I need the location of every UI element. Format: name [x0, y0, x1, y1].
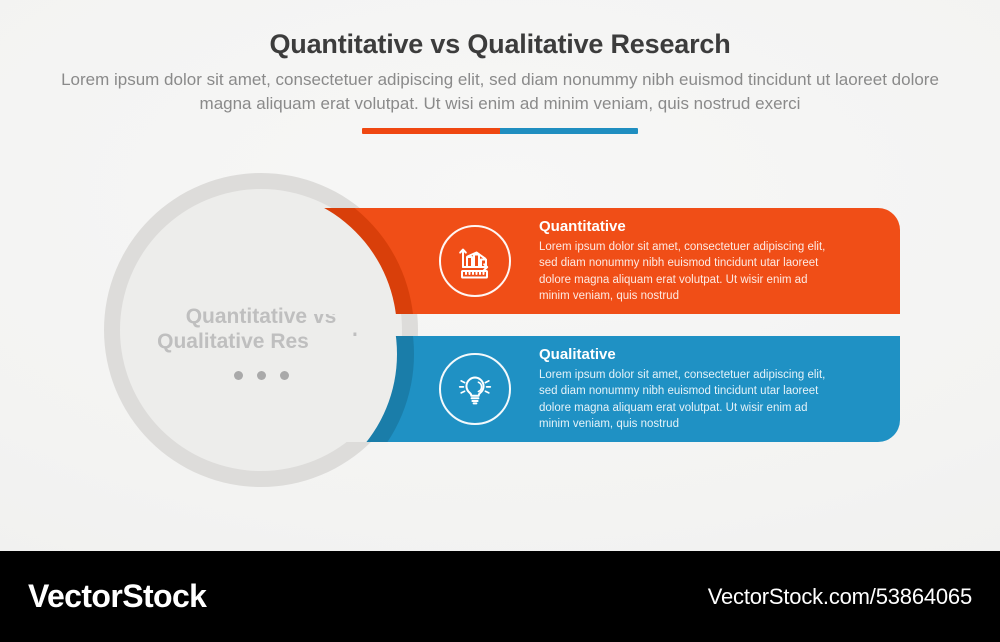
watermark-footer: VectorStock VectorStock.com/53864065: [0, 551, 1000, 642]
divider-segment-blue: [500, 128, 638, 134]
circle-dots: [234, 371, 289, 380]
page-title: Quantitative vs Qualitative Research: [0, 0, 1000, 62]
panel-quantitative[interactable]: Quantitative Lorem ipsum dolor sit amet,…: [308, 208, 900, 314]
panel-content: Quantitative Lorem ipsum dolor sit amet,…: [308, 208, 900, 314]
panel-text: Quantitative Lorem ipsum dolor sit amet,…: [539, 218, 839, 304]
panel-description: Lorem ipsum dolor sit amet, consectetuer…: [539, 367, 839, 432]
divider-segment-orange: [362, 128, 500, 134]
bar-chart-ruler-icon: [439, 225, 511, 297]
dot-icon: [280, 371, 289, 380]
panel-description: Lorem ipsum dolor sit amet, consectetuer…: [539, 239, 839, 304]
screenshot-root: Quantitative vs Qualitative Research Lor…: [0, 0, 1000, 642]
accent-divider: [362, 128, 638, 134]
dot-icon: [234, 371, 243, 380]
infographic-artboard: Quantitative vs Qualitative Research Lor…: [0, 0, 1000, 551]
watermark-url: VectorStock.com/53864065: [708, 584, 972, 610]
header: Quantitative vs Qualitative Research Lor…: [0, 0, 1000, 116]
panel-text: Qualitative Lorem ipsum dolor sit amet, …: [539, 346, 839, 432]
panel-heading: Quantitative: [539, 218, 839, 236]
panel-content: Qualitative Lorem ipsum dolor sit amet, …: [308, 336, 900, 442]
brand-logo-text: VectorStock: [28, 578, 206, 615]
page-subtitle: Lorem ipsum dolor sit amet, consectetuer…: [60, 62, 940, 116]
panel-qualitative[interactable]: Qualitative Lorem ipsum dolor sit amet, …: [308, 336, 900, 442]
panel-heading: Qualitative: [539, 346, 839, 364]
lightbulb-idea-icon: [439, 353, 511, 425]
dot-icon: [257, 371, 266, 380]
